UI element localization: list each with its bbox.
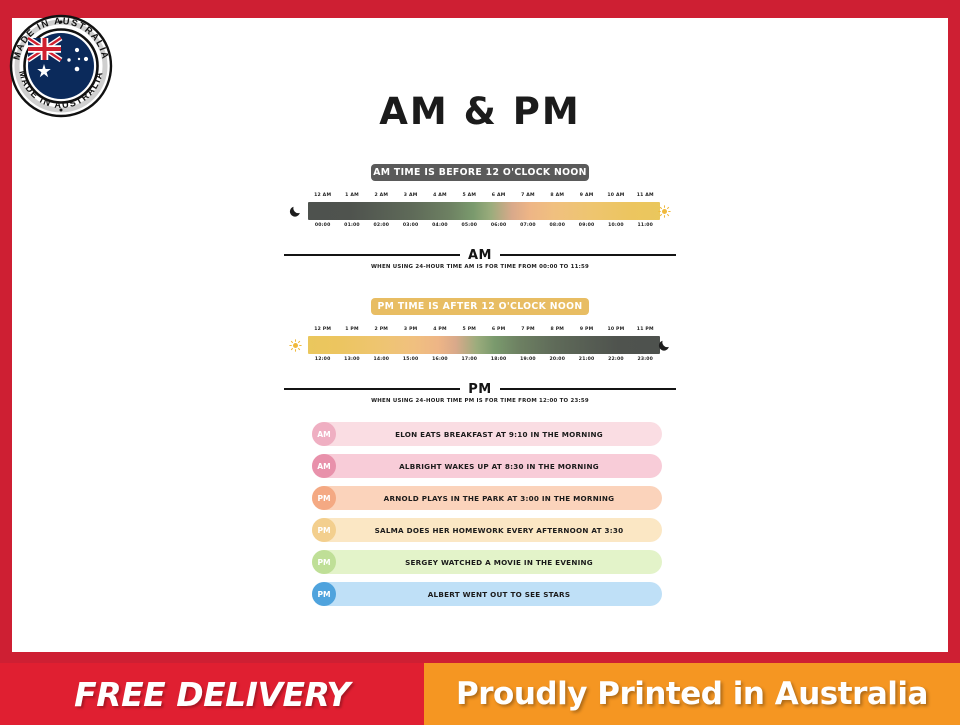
free-delivery-panel: FREE DELIVERY	[0, 663, 424, 725]
pm-tick-24h: 21:00	[572, 357, 601, 362]
am-section: AM TIME IS BEFORE 12 O'CLOCK NOON 12 AM …	[12, 164, 948, 270]
pm-tick-12h: 3 PM	[396, 327, 425, 332]
am-tick-12h: 12 AM	[308, 193, 337, 198]
pm-tick-12h: 9 PM	[572, 327, 601, 332]
pm-tick-24h: 13:00	[337, 357, 366, 362]
period-badge: PM	[312, 550, 336, 574]
pm-tick-12h: 4 PM	[425, 327, 454, 332]
pm-gradient-bar	[308, 336, 660, 354]
poster-content: AM & PM AM TIME IS BEFORE 12 O'CLOCK NOO…	[12, 18, 948, 652]
pm-tick-12h: 5 PM	[455, 327, 484, 332]
pm-hour-labels-24h: 12:00 13:00 14:00 15:00 16:00 17:00 18:0…	[308, 357, 660, 362]
am-tick-24h: 06:00	[484, 223, 513, 228]
pm-tick-24h: 12:00	[308, 357, 337, 362]
am-tick-24h: 07:00	[513, 223, 542, 228]
pm-note: WHEN USING 24-HOUR TIME PM IS FOR TIME F…	[270, 398, 690, 404]
pm-tick-24h: 17:00	[455, 357, 484, 362]
am-tick-12h: 9 AM	[572, 193, 601, 198]
sun-icon	[658, 205, 671, 218]
list-item: PM SALMA DOES HER HOMEWORK EVERY AFTERNO…	[312, 518, 662, 542]
am-tick-12h: 2 AM	[367, 193, 396, 198]
pm-tick-24h: 19:00	[513, 357, 542, 362]
period-badge: AM	[312, 422, 336, 446]
am-tick-24h: 03:00	[396, 223, 425, 228]
am-tick-12h: 1 AM	[337, 193, 366, 198]
am-tick-12h: 7 AM	[513, 193, 542, 198]
pm-tick-24h: 18:00	[484, 357, 513, 362]
pm-section: PM TIME IS AFTER 12 O'CLOCK NOON 12 PM 1…	[12, 298, 948, 404]
printed-in-australia-panel: Proudly Printed in Australia	[424, 663, 960, 725]
am-tick-24h: 04:00	[425, 223, 454, 228]
am-tick-12h: 4 AM	[425, 193, 454, 198]
am-tick-12h: 10 AM	[601, 193, 630, 198]
am-hour-labels-24h: 00:00 01:00 02:00 03:00 04:00 05:00 06:0…	[308, 223, 660, 228]
am-tick-24h: 09:00	[572, 223, 601, 228]
moon-icon	[658, 339, 671, 352]
pm-headline-pill: PM TIME IS AFTER 12 O'CLOCK NOON	[371, 298, 589, 315]
am-note: WHEN USING 24-HOUR TIME AM IS FOR TIME F…	[270, 264, 690, 270]
pm-tick-12h: 8 PM	[543, 327, 572, 332]
am-timeline: 12 AM 1 AM 2 AM 3 AM 4 AM 5 AM 6 AM 7 AM…	[284, 193, 676, 243]
am-tick-24h: 05:00	[455, 223, 484, 228]
divider-line-right	[500, 388, 676, 391]
am-gradient-bar	[308, 202, 660, 220]
product-image-frame: AM & PM AM TIME IS BEFORE 12 O'CLOCK NOO…	[0, 0, 960, 725]
pm-abbr-label: PM	[460, 382, 499, 397]
pm-tick-12h: 2 PM	[367, 327, 396, 332]
examples-list: AM ELON EATS BREAKFAST AT 9:10 IN THE MO…	[312, 422, 662, 614]
pm-tick-24h: 14:00	[367, 357, 396, 362]
am-hour-labels-12h: 12 AM 1 AM 2 AM 3 AM 4 AM 5 AM 6 AM 7 AM…	[308, 193, 660, 198]
am-divider: AM	[284, 247, 676, 263]
moon-icon	[289, 205, 302, 218]
list-item: PM ALBERT WENT OUT TO SEE STARS	[312, 582, 662, 606]
made-in-australia-badge: MADE IN AUSTRALIA MADE IN AUSTRALIA	[7, 12, 115, 120]
pm-tick-12h: 11 PM	[631, 327, 660, 332]
pm-tick-24h: 16:00	[425, 357, 454, 362]
divider-line-right	[500, 254, 676, 257]
pm-hour-labels-12h: 12 PM 1 PM 2 PM 3 PM 4 PM 5 PM 6 PM 7 PM…	[308, 327, 660, 332]
am-tick-12h: 5 AM	[455, 193, 484, 198]
am-tick-12h: 3 AM	[396, 193, 425, 198]
list-item: PM SERGEY WATCHED A MOVIE IN THE EVENING	[312, 550, 662, 574]
promo-banner: FREE DELIVERY Proudly Printed in Austral…	[0, 663, 960, 725]
example-sentence: ALBRIGHT WAKES UP AT 8:30 IN THE MORNING	[312, 462, 662, 471]
printed-in-australia-label: Proudly Printed in Australia	[456, 676, 928, 712]
example-sentence: ELON EATS BREAKFAST AT 9:10 IN THE MORNI…	[312, 430, 662, 439]
pm-tick-12h: 10 PM	[601, 327, 630, 332]
am-tick-24h: 10:00	[601, 223, 630, 228]
am-tick-12h: 11 AM	[631, 193, 660, 198]
pm-tick-24h: 15:00	[396, 357, 425, 362]
am-headline-pill: AM TIME IS BEFORE 12 O'CLOCK NOON	[371, 164, 589, 181]
example-sentence: ARNOLD PLAYS IN THE PARK AT 3:00 IN THE …	[312, 494, 662, 503]
pm-tick-12h: 7 PM	[513, 327, 542, 332]
example-sentence: SALMA DOES HER HOMEWORK EVERY AFTERNOON …	[312, 526, 662, 535]
poster-canvas: AM & PM AM TIME IS BEFORE 12 O'CLOCK NOO…	[12, 18, 948, 652]
pm-tick-12h: 12 PM	[308, 327, 337, 332]
free-delivery-label: FREE DELIVERY	[74, 675, 350, 714]
am-tick-24h: 01:00	[337, 223, 366, 228]
period-badge: PM	[312, 518, 336, 542]
page-title: AM & PM	[12, 90, 948, 133]
am-tick-12h: 8 AM	[543, 193, 572, 198]
period-badge: PM	[312, 582, 336, 606]
pm-tick-24h: 20:00	[543, 357, 572, 362]
period-badge: AM	[312, 454, 336, 478]
pm-tick-12h: 6 PM	[484, 327, 513, 332]
example-sentence: SERGEY WATCHED A MOVIE IN THE EVENING	[312, 558, 662, 567]
pm-divider: PM	[284, 381, 676, 397]
divider-line-left	[284, 388, 460, 391]
pm-tick-24h: 23:00	[631, 357, 660, 362]
am-tick-24h: 08:00	[543, 223, 572, 228]
am-tick-24h: 02:00	[367, 223, 396, 228]
list-item: AM ALBRIGHT WAKES UP AT 8:30 IN THE MORN…	[312, 454, 662, 478]
am-abbr-label: AM	[460, 248, 500, 263]
pm-tick-12h: 1 PM	[337, 327, 366, 332]
am-tick-24h: 11:00	[631, 223, 660, 228]
list-item: AM ELON EATS BREAKFAST AT 9:10 IN THE MO…	[312, 422, 662, 446]
am-tick-24h: 00:00	[308, 223, 337, 228]
period-badge: PM	[312, 486, 336, 510]
list-item: PM ARNOLD PLAYS IN THE PARK AT 3:00 IN T…	[312, 486, 662, 510]
example-sentence: ALBERT WENT OUT TO SEE STARS	[312, 590, 662, 599]
pm-tick-24h: 22:00	[601, 357, 630, 362]
pm-timeline: 12 PM 1 PM 2 PM 3 PM 4 PM 5 PM 6 PM 7 PM…	[284, 327, 676, 377]
am-tick-12h: 6 AM	[484, 193, 513, 198]
sun-icon	[289, 339, 302, 352]
divider-line-left	[284, 254, 460, 257]
